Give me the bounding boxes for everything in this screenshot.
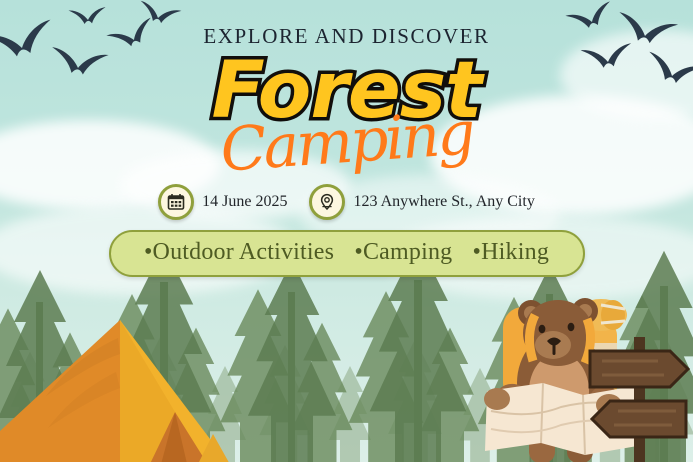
- calendar-icon: [158, 184, 194, 220]
- activity-item: •Outdoor Activities: [144, 239, 334, 265]
- event-date-text: 14 June 2025: [202, 193, 287, 211]
- event-location: 123 Anywhere St., Any City: [309, 184, 534, 220]
- event-date: 14 June 2025: [158, 184, 287, 220]
- event-location-text: 123 Anywhere St., Any City: [353, 193, 534, 211]
- location-pin-icon: [309, 184, 345, 220]
- forest-camping-poster: EXPLORE AND DISCOVER Forest Camping: [0, 0, 693, 462]
- activity-item: •Hiking: [473, 239, 549, 265]
- activities-banner: •Outdoor Activities •Camping •Hiking: [109, 230, 585, 277]
- activities-list: •Outdoor Activities •Camping •Hiking: [137, 239, 557, 266]
- event-meta-row: 14 June 2025 123 Anywhere St., Any City: [0, 184, 693, 220]
- activity-item: •Camping: [354, 239, 452, 265]
